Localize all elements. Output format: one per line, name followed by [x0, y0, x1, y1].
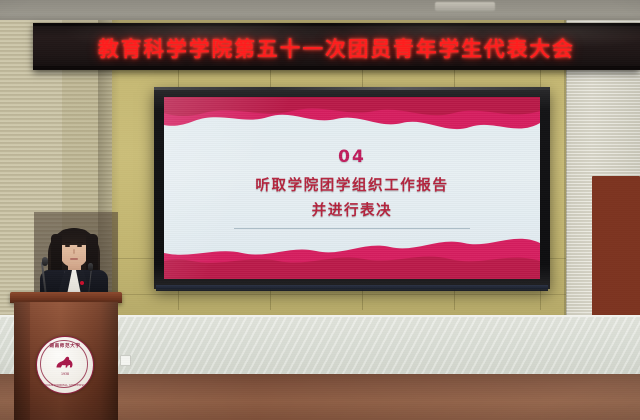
- led-banner: 教育科学学院第五十一次团员青年学生代表大会: [33, 23, 640, 70]
- seal-bottom-text: HUNAN NORMAL UNIVERSITY: [37, 383, 93, 387]
- led-screen-display: 04 听取学院团学组织工作报告 并进行表决: [164, 97, 540, 279]
- university-seal: 湖南师范大学 1938 HUNAN NORMAL UNIVERSITY: [36, 336, 94, 394]
- led-screen-bottom-strip: [156, 285, 548, 291]
- seal-year-text: 1938: [37, 372, 93, 376]
- slide-heading-line-1: 听取学院团学组织工作报告: [255, 174, 448, 195]
- banner-bottom-edge: [33, 66, 640, 70]
- speaker-person: [38, 224, 110, 300]
- speaker-lapel-badge: [80, 281, 84, 285]
- speaker-nose: [73, 249, 75, 254]
- speaker-eye-right: [77, 245, 82, 247]
- wall-outlet[interactable]: [120, 355, 131, 366]
- seal-horse-emblem: [54, 356, 77, 371]
- ribbon-bottom-shape: [164, 227, 540, 279]
- microphone-head-secondary: [88, 263, 93, 271]
- banner-title-text: 教育科学学院第五十一次团员青年学生代表大会: [33, 32, 640, 62]
- speaker-eye-left: [65, 245, 70, 247]
- slide-heading-line-2: 并进行表决: [312, 199, 393, 220]
- seal-top-text: 湖南师范大学: [37, 343, 93, 349]
- wall-seam-horizontal: [112, 294, 582, 295]
- slide-ribbon-bottom: [164, 227, 540, 279]
- microphone-head: [42, 257, 48, 266]
- speaker-mouth: [70, 258, 78, 260]
- led-screen-bezel-highlight: [154, 87, 550, 90]
- conference-hall-photo: 教育科学学院第五十一次团员青年学生代表大会 04 听取学院团学组织工作报告 并进…: [0, 0, 640, 420]
- ceiling-light: [435, 2, 495, 11]
- slide-number: 04: [338, 147, 366, 167]
